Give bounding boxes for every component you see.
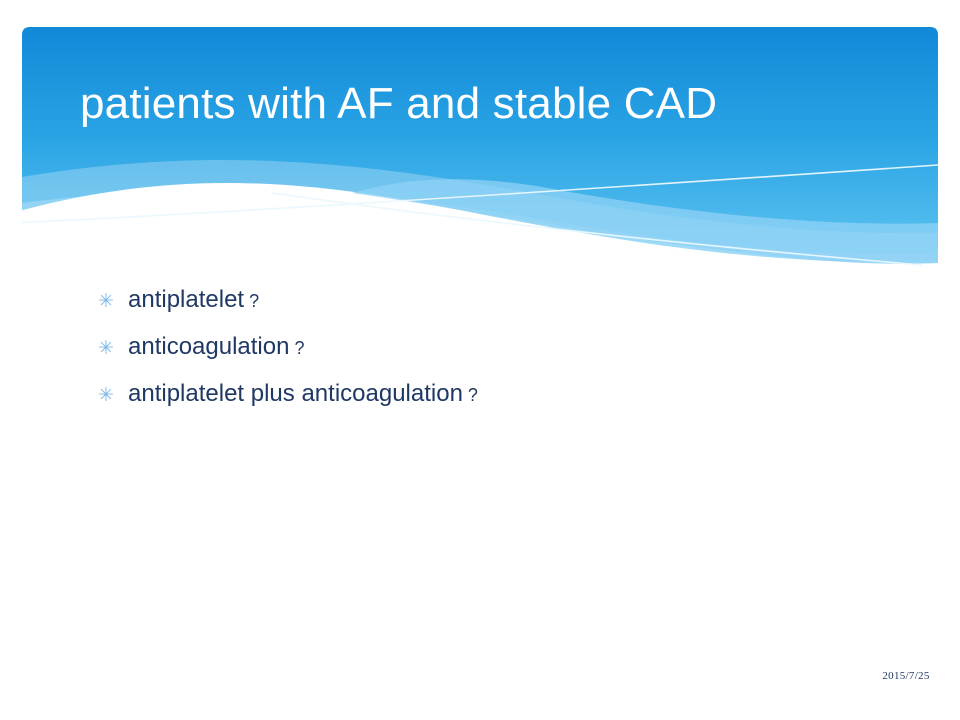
page-title: patients with AF and stable CAD xyxy=(80,76,920,132)
asterisk-bullet-icon: ✳ xyxy=(98,334,128,364)
list-item-question-mark: ? xyxy=(249,291,259,312)
asterisk-bullet-icon: ✳ xyxy=(98,287,128,317)
bullet-list: ✳ antiplatelet ? ✳ anticoagulation ? ✳ a… xyxy=(98,285,898,426)
list-item: ✳ anticoagulation ? xyxy=(98,332,898,379)
list-item-question-mark: ? xyxy=(294,338,304,359)
slide: patients with AF and stable CAD ✳ antipl… xyxy=(0,0,960,720)
list-item-question-mark: ? xyxy=(468,385,478,406)
list-item-label: antiplatelet plus anticoagulation xyxy=(128,379,463,409)
list-item: ✳ antiplatelet ? xyxy=(98,285,898,332)
list-item: ✳ antiplatelet plus anticoagulation ? xyxy=(98,379,898,426)
header-wave-graphic xyxy=(22,27,938,267)
list-item-label: antiplatelet xyxy=(128,285,244,315)
footer-date: 2015/7/25 xyxy=(874,669,938,683)
asterisk-bullet-icon: ✳ xyxy=(98,381,128,411)
header-banner xyxy=(22,27,938,267)
list-item-label: anticoagulation xyxy=(128,332,289,362)
